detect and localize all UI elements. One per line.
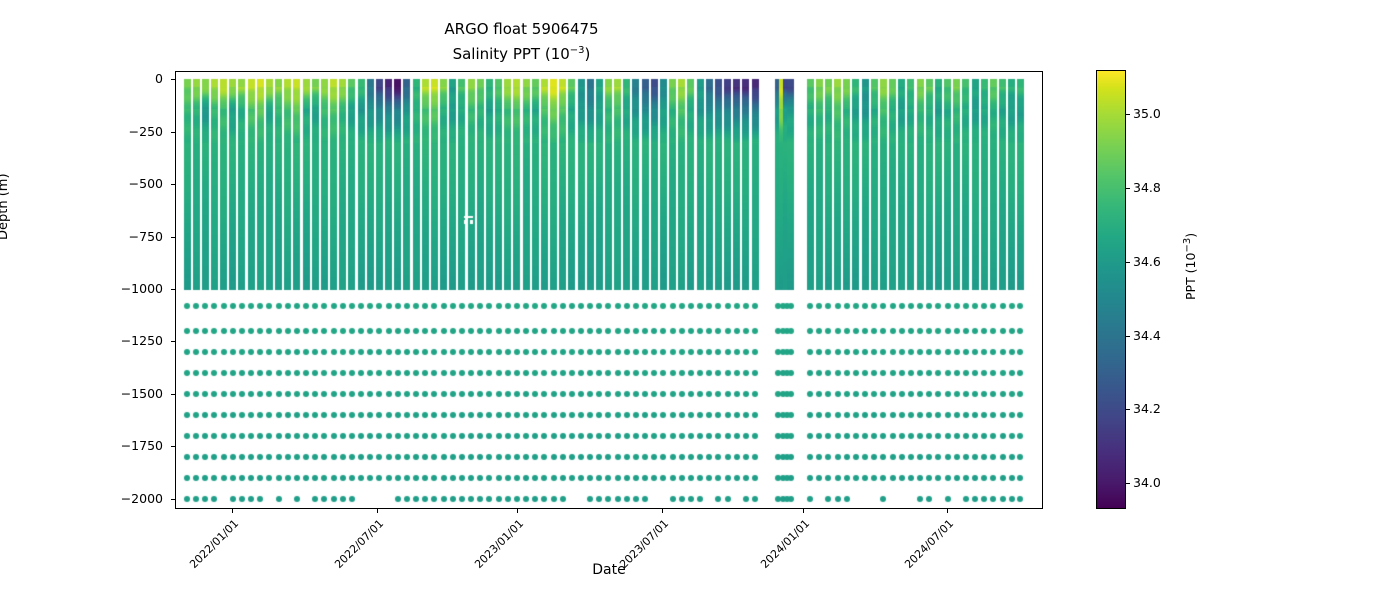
y-tick-label: −750 <box>103 229 163 244</box>
y-tick-label: −250 <box>103 124 163 139</box>
colorbar <box>1096 70 1126 509</box>
y-tick-mark <box>171 184 175 185</box>
y-tick-mark <box>171 499 175 500</box>
colorbar-tick-label: 34.2 <box>1133 401 1161 416</box>
figure-title: ARGO float 5906475 Salinity PPT (10−3) <box>0 18 1043 65</box>
figure-title-line2-prefix: Salinity PPT (10 <box>453 45 570 63</box>
colorbar-tick-mark <box>1126 336 1130 337</box>
x-tick-mark <box>803 509 804 513</box>
colorbar-tick-mark <box>1126 409 1130 410</box>
colorbar-label-prefix: PPT (10 <box>1183 253 1198 300</box>
y-tick-label: −2000 <box>103 491 163 506</box>
argo-salinity-figure: ARGO float 5906475 Salinity PPT (10−3) 0… <box>0 0 1400 600</box>
colorbar-tick-label: 34.0 <box>1133 475 1161 490</box>
y-tick-mark <box>171 237 175 238</box>
colorbar-tick-label: 35.0 <box>1133 106 1161 121</box>
colorbar-label-exponent: −3 <box>1182 238 1193 253</box>
figure-title-line2-suffix: ) <box>585 45 591 63</box>
x-tick-mark <box>517 509 518 513</box>
colorbar-tick-mark <box>1126 262 1130 263</box>
x-tick-mark <box>947 509 948 513</box>
y-tick-label: −1000 <box>103 281 163 296</box>
colorbar-label: PPT (10−3) <box>1182 233 1198 300</box>
colorbar-tick-mark <box>1126 114 1130 115</box>
figure-title-line2-exponent: −3 <box>570 45 585 56</box>
x-tick-mark <box>377 509 378 513</box>
colorbar-tick-mark <box>1126 483 1130 484</box>
colorbar-tick-mark <box>1126 188 1130 189</box>
colorbar-tick-label: 34.4 <box>1133 328 1161 343</box>
y-tick-mark <box>171 394 175 395</box>
colorbar-tick-label: 34.6 <box>1133 254 1161 269</box>
colorbar-tick-label: 34.8 <box>1133 180 1161 195</box>
figure-title-line1: ARGO float 5906475 <box>0 18 1043 40</box>
y-tick-label: 0 <box>103 71 163 86</box>
x-axis-label: Date <box>175 562 1043 578</box>
y-tick-mark <box>171 341 175 342</box>
y-tick-label: −1500 <box>103 386 163 401</box>
y-tick-mark <box>171 289 175 290</box>
y-tick-label: −1750 <box>103 438 163 453</box>
y-tick-label: −500 <box>103 176 163 191</box>
plot-axes <box>175 71 1043 509</box>
y-tick-mark <box>171 132 175 133</box>
y-tick-label: −1250 <box>103 333 163 348</box>
y-tick-mark <box>171 79 175 80</box>
x-tick-mark <box>662 509 663 513</box>
x-tick-mark <box>232 509 233 513</box>
y-tick-mark <box>171 446 175 447</box>
colorbar-label-suffix: ) <box>1183 233 1198 238</box>
y-axis-label: Depth (m) <box>0 173 11 240</box>
salinity-heatmap-canvas <box>176 72 1042 508</box>
figure-title-line2: Salinity PPT (10−3) <box>0 40 1043 65</box>
